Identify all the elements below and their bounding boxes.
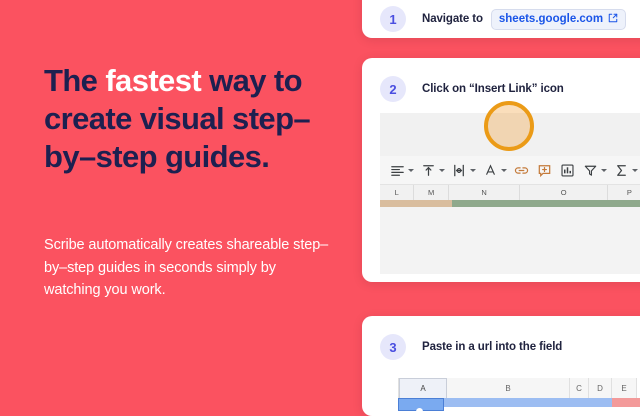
step-card-3[interactable]: 3 Paste in a url into the field A B C D …: [362, 316, 640, 416]
vertical-align-top-icon: [420, 162, 437, 179]
hero-panel: The fastest way to create visual step–by…: [0, 0, 362, 400]
column-header-a[interactable]: A: [399, 378, 447, 398]
page-title: The fastest way to create visual step–by…: [44, 62, 344, 176]
chevron-down-icon: [501, 169, 507, 172]
step-1-instruction: Navigate to: [422, 13, 483, 25]
step-number-badge: 3: [380, 334, 406, 360]
sheet-bottom-edge: [380, 274, 640, 282]
cell-fill-handle[interactable]: [416, 408, 423, 415]
column-header-row: A B C D E: [380, 378, 640, 398]
toolbar-functions[interactable]: [610, 156, 640, 184]
column-header[interactable]: O: [520, 185, 607, 200]
column-header[interactable]: P: [608, 185, 640, 200]
text-rotation-icon: [482, 162, 499, 179]
step-3-instruction: Paste in a url into the field: [422, 341, 562, 353]
chevron-down-icon: [601, 169, 607, 172]
column-header[interactable]: M: [414, 185, 448, 200]
chevron-down-icon: [408, 169, 414, 172]
row-header[interactable]: [380, 398, 398, 407]
step-2-instruction: Click on “Insert Link” icon: [422, 83, 564, 95]
toolbar-filter[interactable]: [579, 156, 610, 184]
sheets-link-chip[interactable]: sheets.google.com: [491, 9, 626, 30]
step-card-2[interactable]: 2 Click on “Insert Link” icon: [362, 58, 640, 282]
row-band-green: [452, 200, 640, 207]
column-header[interactable]: L: [380, 185, 414, 200]
link-chip-label: sheets.google.com: [499, 13, 603, 25]
chevron-down-icon: [439, 169, 445, 172]
step-3-header: 3 Paste in a url into the field: [362, 328, 640, 366]
spreadsheet-screenshot-step-2: L M N O P: [380, 113, 640, 282]
toolbar-insert-link[interactable]: [510, 156, 533, 184]
chevron-down-icon: [632, 169, 638, 172]
spreadsheet-toolbar: [380, 156, 640, 185]
promo-screenshot: The fastest way to create visual step–by…: [0, 0, 640, 400]
click-highlight-ring: [484, 101, 534, 151]
step-card-1[interactable]: 1 Navigate to sheets.google.com: [362, 0, 640, 38]
step-number-badge: 1: [380, 6, 406, 32]
spreadsheet-screenshot-step-3: A B C D E: [380, 368, 640, 416]
chevron-down-icon: [470, 169, 476, 172]
column-header-d[interactable]: D: [589, 378, 612, 398]
colored-data-row: [380, 200, 640, 207]
column-header-row: L M N O P: [380, 185, 640, 201]
toolbar-text-wrap[interactable]: [448, 156, 479, 184]
spreadsheet-grid-area[interactable]: [380, 207, 640, 274]
insert-comment-icon: [536, 162, 553, 179]
step-1-header: 1 Navigate to sheets.google.com: [362, 0, 640, 38]
insert-chart-icon: [559, 162, 576, 179]
insert-link-icon: [513, 162, 530, 179]
headline-accent: fastest: [105, 63, 201, 98]
toolbar-vertical-align[interactable]: [417, 156, 448, 184]
toolbar-insert-comment[interactable]: [533, 156, 556, 184]
toolbar-align-left[interactable]: [386, 156, 417, 184]
column-header-e[interactable]: E: [612, 378, 637, 398]
align-left-icon: [389, 162, 406, 179]
row-band-tan: [380, 200, 452, 207]
column-header-c[interactable]: C: [570, 378, 589, 398]
functions-sigma-icon: [613, 162, 630, 179]
column-header[interactable]: N: [449, 185, 521, 200]
toolbar-insert-chart[interactable]: [556, 156, 579, 184]
step-card-column: 1 Navigate to sheets.google.com 2: [362, 0, 640, 400]
column-header-b[interactable]: B: [447, 378, 570, 398]
toolbar-text-rotation[interactable]: [479, 156, 510, 184]
row-band-red: [612, 398, 640, 407]
step-number-badge: 2: [380, 76, 406, 102]
filter-icon: [582, 162, 599, 179]
select-all-corner[interactable]: [380, 378, 399, 398]
external-link-icon: [608, 13, 618, 26]
hero-subcopy: Scribe automatically creates shareable s…: [44, 234, 334, 302]
headline-part-1: The: [44, 63, 105, 98]
text-wrap-icon: [451, 162, 468, 179]
